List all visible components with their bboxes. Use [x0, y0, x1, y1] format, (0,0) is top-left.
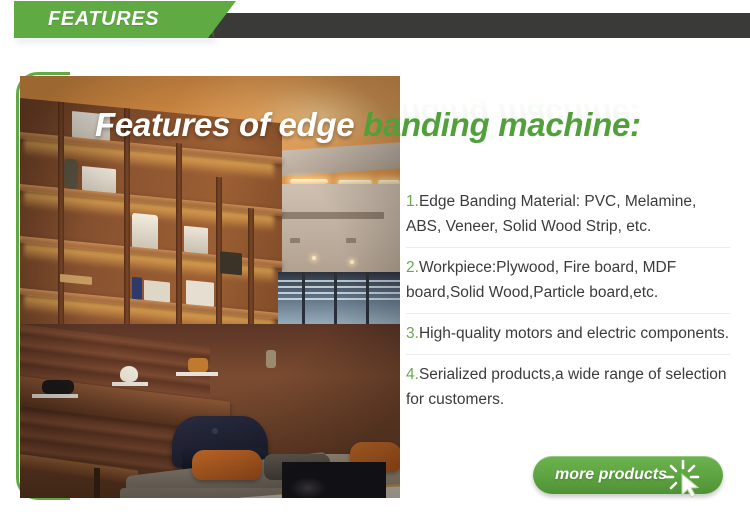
list-item-number: 4.	[406, 366, 419, 383]
list-item-text: Workpiece:Plywood, Fire board, MDF board…	[406, 259, 676, 301]
page-title: Features of edge banding machine:	[95, 104, 750, 146]
photo-window-blind	[278, 280, 400, 282]
photo-sculpture	[282, 462, 386, 498]
feature-list: 1.Edge Banding Material: PVC, Melamine, …	[406, 182, 730, 420]
ribbon-dark-bar	[205, 13, 750, 38]
promo-banner: FEATURES	[0, 0, 750, 512]
page-title-white-part: Features of edge	[95, 106, 363, 143]
photo-ledge	[176, 372, 218, 376]
photo-shelf-object	[132, 213, 158, 250]
photo-shelf-object	[220, 251, 242, 275]
list-item-number: 1.	[406, 193, 419, 210]
page-title-green-part: banding machine:	[363, 106, 641, 143]
features-ribbon: FEATURES	[0, 0, 750, 50]
photo-decor-figure	[188, 358, 208, 372]
photo-cushion	[192, 450, 262, 480]
list-item: 1.Edge Banding Material: PVC, Melamine, …	[406, 182, 730, 248]
photo-ledge	[112, 382, 148, 386]
list-item-text: Serialized products,a wide range of sele…	[406, 366, 727, 408]
photo-shelf-object	[144, 280, 170, 303]
list-item: 2.Workpiece:Plywood, Fire board, MDF boa…	[406, 248, 730, 314]
ribbon-drop-shadow	[16, 38, 216, 46]
photo-decor-vase	[266, 350, 276, 368]
list-item-text: Edge Banding Material: PVC, Melamine, AB…	[406, 193, 696, 235]
photo-ledge	[32, 394, 78, 398]
photo-bench-leg	[94, 468, 100, 498]
more-products-button[interactable]: more products	[533, 456, 723, 494]
photo-window-blind	[278, 298, 400, 300]
list-item-number: 2.	[406, 259, 419, 276]
click-cursor-icon	[663, 457, 709, 499]
photo-downlight	[350, 260, 354, 264]
photo-window-blind	[278, 292, 400, 294]
list-item: 4.Serialized products,a wide range of se…	[406, 355, 730, 420]
ribbon-title: FEATURES	[48, 8, 159, 31]
photo-shelf-object	[64, 158, 78, 189]
list-item-text: High-quality motors and electric compone…	[419, 325, 729, 342]
photo-shelf-object	[82, 166, 116, 193]
photo-shelf-object	[184, 226, 208, 254]
photo-shelf-object	[132, 277, 142, 300]
list-item-number: 3.	[406, 325, 419, 342]
photo-shelf-divider	[58, 102, 64, 353]
photo-decor-object	[42, 380, 74, 394]
more-products-label: more products	[555, 465, 667, 485]
photo-downlight	[312, 256, 316, 260]
photo-decor-bowl	[120, 366, 138, 382]
photo-wall-slot	[346, 238, 356, 243]
photo-shelf-object	[60, 274, 92, 285]
photo-wall-slot	[290, 238, 300, 243]
photo-shelf-object	[186, 280, 214, 307]
photo-armchair-tuft	[212, 428, 218, 434]
list-item: 3.High-quality motors and electric compo…	[406, 314, 730, 355]
photo-window-blind	[278, 286, 400, 288]
